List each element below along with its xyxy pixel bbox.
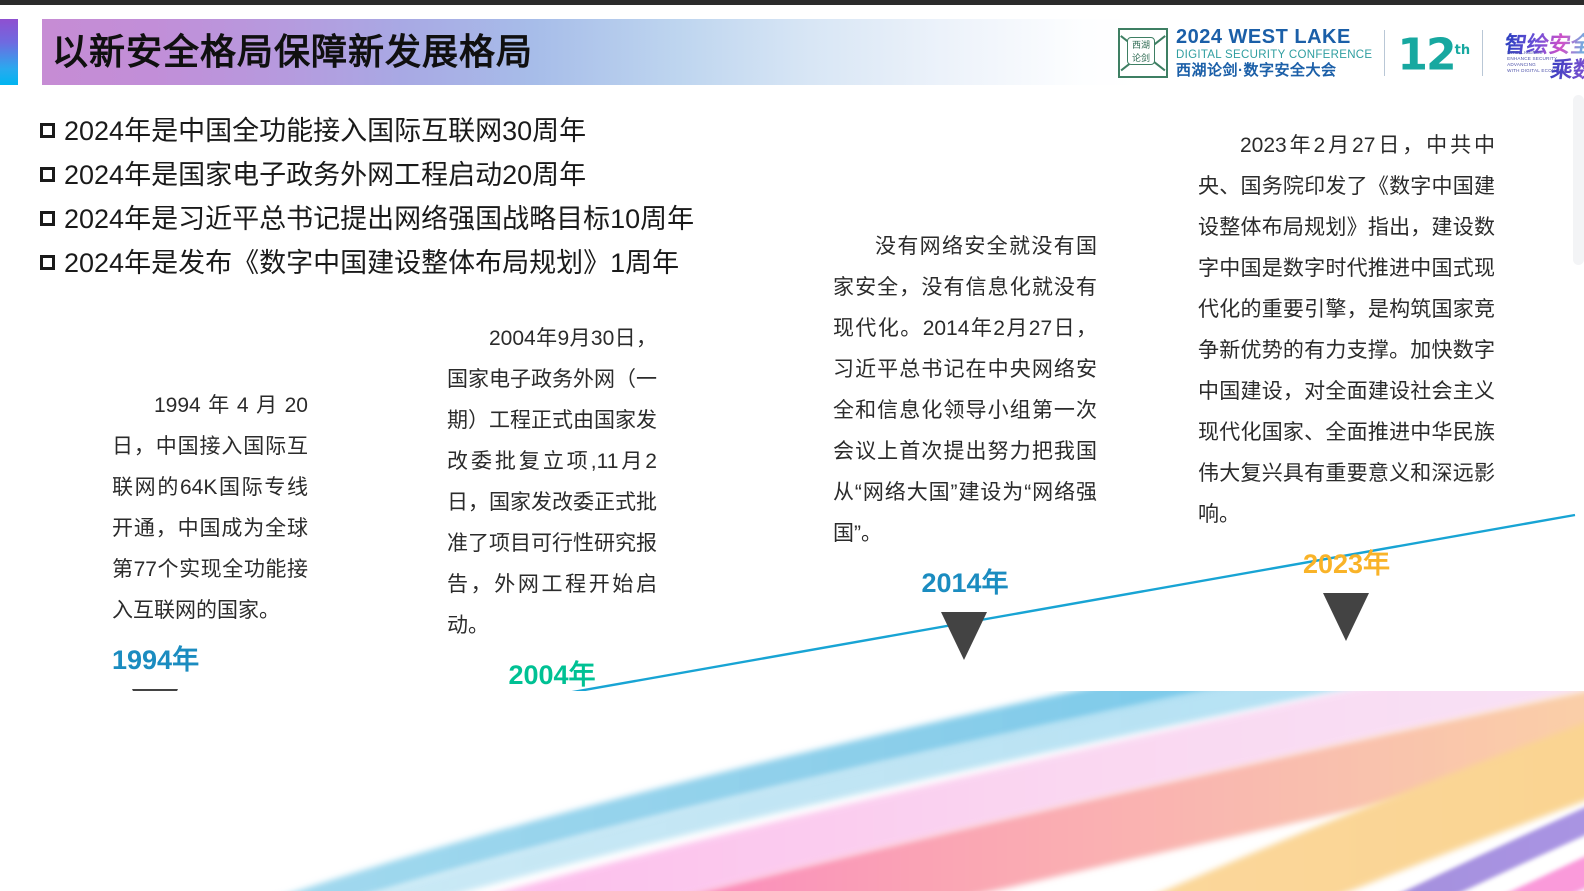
decorative-wave-band [0,691,1584,891]
square-bullet-icon [40,167,55,182]
scrollbar-thumb[interactable] [1573,95,1584,265]
logo-divider-2 [1482,30,1483,76]
milestone-year-label: 1994年 [112,643,308,677]
logo-divider-1 [1384,30,1385,76]
list-item: 2024年是习近平总书记提出网络强国战略目标10周年 [40,202,740,236]
slogan-line-2: 乘数而上 [1549,52,1584,84]
milestone-body: 2004年9月30日，国家电子政务外网（一期）工程正式由国家发改委批复立项,11… [447,318,657,646]
square-bullet-icon [40,211,55,226]
slogan-logo: 智绘安全X INTELLIGENCEENHANCE SECURITYADVANC… [1495,25,1584,81]
milestone-body: 没有网络安全就没有国家安全，没有信息化就没有现代化。2014年2月27日，习近平… [833,226,1097,554]
bullet-list: 2024年是中国全功能接入国际互联网30周年 2024年是国家电子政务外网工程启… [40,114,740,290]
title-accent-bar [0,19,18,85]
bullet-text: 2024年是国家电子政务外网工程启动20周年 [64,158,586,192]
edition-badge: 12th [1397,28,1470,79]
milestone-year-label: 2023年 [1198,547,1495,581]
conference-sub-en: DIGITAL SECURITY CONFERENCE [1176,48,1372,62]
conference-wordmark: 2024 WEST LAKE DIGITAL SECURITY CONFEREN… [1176,27,1372,80]
bullet-text: 2024年是中国全功能接入国际互联网30周年 [64,114,586,148]
timeline-milestone-2023: 2023年2月27日，中共中央、国务院印发了《数字中国建设整体布局规划》指出，建… [1198,125,1495,641]
milestone-year-label: 2004年 [447,658,657,692]
bullet-text: 2024年是发布《数字中国建设整体布局规划》1周年 [64,246,679,280]
timeline-milestone-2004: 2004年9月30日，国家电子政务外网（一期）工程正式由国家发改委批复立项,11… [447,318,657,752]
slide-canvas: 以新安全格局保障新发展格局 西湖论剑 2024 WEST LAKE DIGITA… [0,0,1584,891]
list-item: 2024年是发布《数字中国建设整体布局规划》1周年 [40,246,740,280]
conference-name-cn: 西湖论剑·数字安全大会 [1176,62,1372,80]
conference-year-en: 2024 WEST LAKE [1176,27,1372,48]
square-bullet-icon [40,255,55,270]
timeline-milestone-1994: 1994年4月20日，中国接入国际互联网的64K国际专线开通，中国成为全球第77… [112,385,308,737]
milestone-body: 1994年4月20日，中国接入国际互联网的64K国际专线开通，中国成为全球第77… [112,385,308,631]
top-strip [0,0,1584,5]
logo-zone: 西湖论剑 2024 WEST LAKE DIGITAL SECURITY CON… [1118,22,1574,84]
bullet-text: 2024年是习近平总书记提出网络强国战略目标10周年 [64,202,694,236]
west-lake-emblem-icon: 西湖论剑 [1118,28,1168,78]
timeline-milestone-2014: 没有网络安全就没有国家安全，没有信息化就没有现代化。2014年2月27日，习近平… [833,226,1097,660]
edition-suffix: th [1455,43,1470,58]
list-item: 2024年是国家电子政务外网工程启动20周年 [40,158,740,192]
milestone-body: 2023年2月27日，中共中央、国务院印发了《数字中国建设整体布局规划》指出，建… [1198,125,1495,535]
triangle-marker-icon [1323,593,1369,641]
triangle-marker-icon [941,612,987,660]
page-title: 以新安全格局保障新发展格局 [52,28,533,76]
list-item: 2024年是中国全功能接入国际互联网30周年 [40,114,740,148]
emblem-inner-text: 西湖论剑 [1127,37,1155,65]
edition-number: 12 [1397,29,1454,80]
milestone-year-label: 2014年 [833,566,1097,600]
square-bullet-icon [40,123,55,138]
